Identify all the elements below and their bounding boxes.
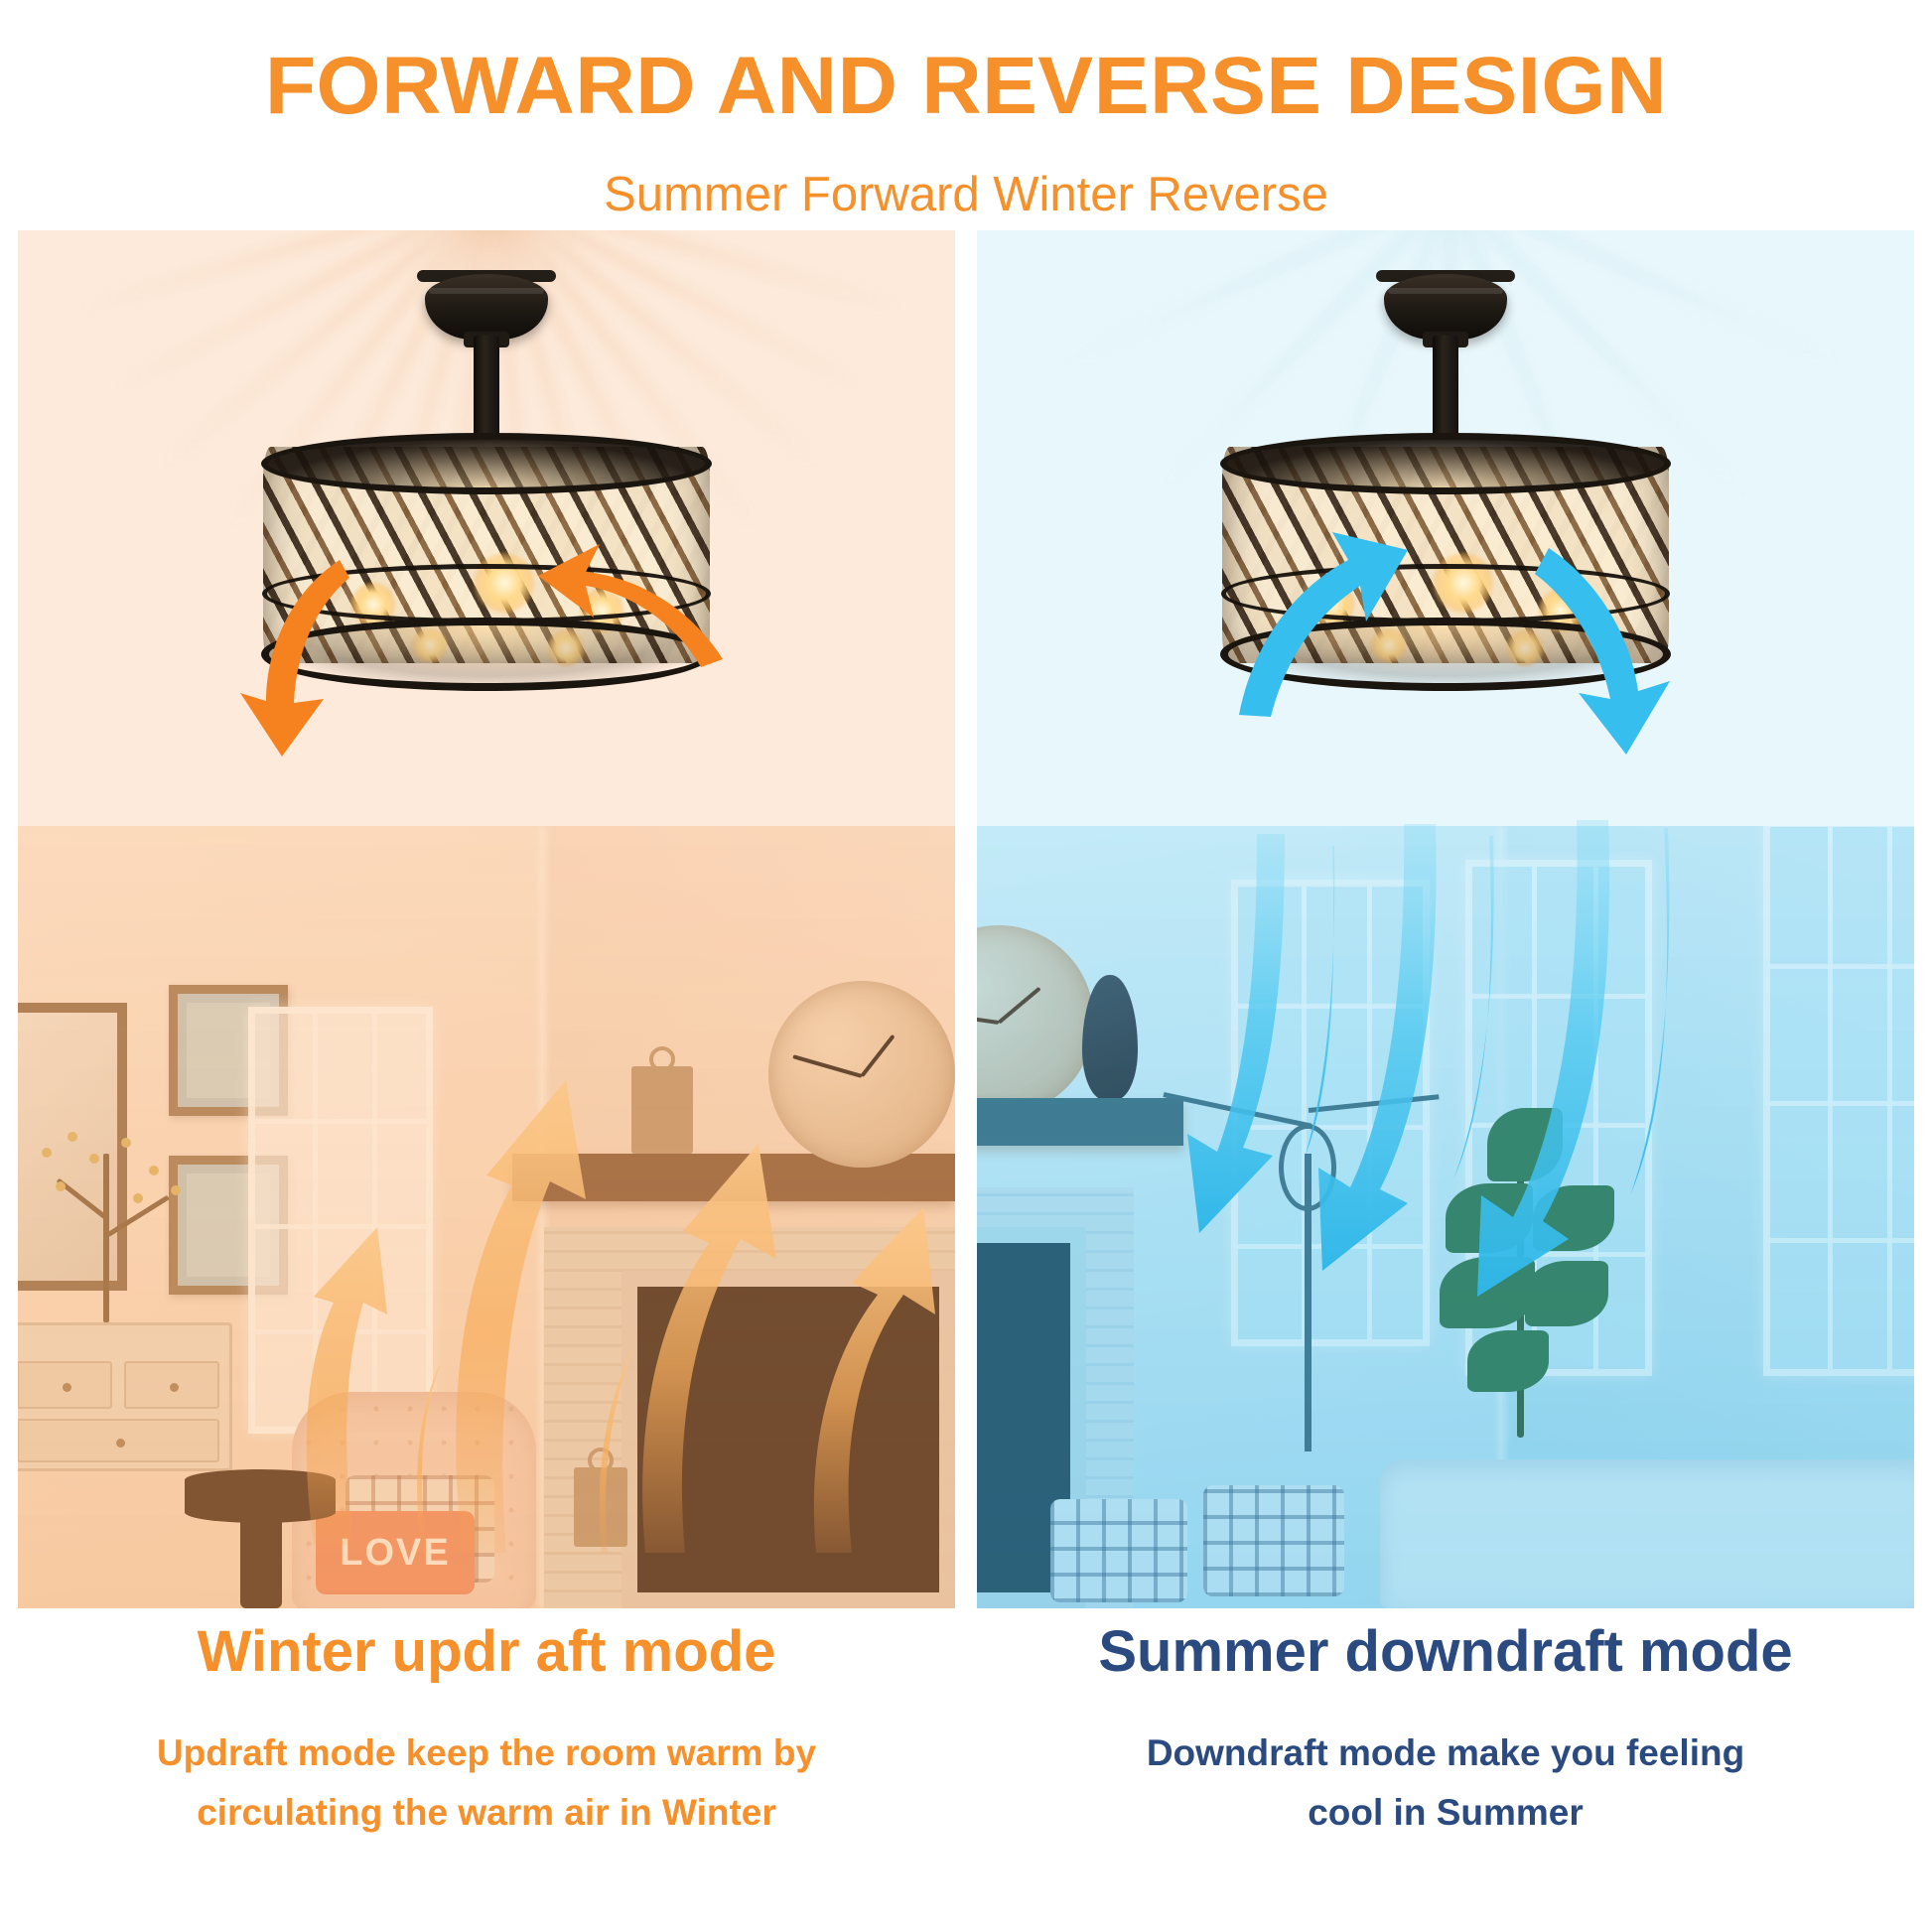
summer-desc-line-2: cool in Summer (977, 1783, 1914, 1843)
caption-summer: Summer downdraft mode Downdraft mode mak… (977, 1620, 1914, 1843)
caption-winter: Winter updr aft mode Updraft mode keep t… (18, 1620, 955, 1843)
page-title: FORWARD AND REVERSE DESIGN (0, 44, 1932, 129)
infographic-page: FORWARD AND REVERSE DESIGN Summer Forwar… (0, 0, 1932, 1932)
rotation-arrow-left-ccw (236, 552, 385, 760)
airflow-arrows-up (197, 806, 955, 1561)
canopy-dome (1384, 274, 1507, 340)
summer-scene (977, 230, 1914, 1608)
canopy-dome (425, 274, 548, 340)
rotation-arrow-right-cw (1515, 542, 1684, 760)
rotation-arrow-left-cw (1233, 526, 1422, 725)
winter-scene: LOVE (18, 230, 955, 1608)
airflow-arrows-down (987, 806, 1914, 1561)
summer-mode-label: Summer downdraft mode (977, 1620, 1914, 1684)
canopy-ring (429, 288, 544, 294)
page-subtitle: Summer Forward Winter Reverse (0, 169, 1932, 222)
winter-desc-line-2: circulating the warm air in Winter (18, 1783, 955, 1843)
downrod (474, 336, 499, 439)
panel-summer (977, 230, 1914, 1608)
panel-winter: LOVE (18, 230, 955, 1608)
drum-top-ring (261, 433, 712, 494)
branch-arrangement (26, 1124, 205, 1322)
panels-container: LOVE (0, 230, 1932, 1608)
drum-top-ring (1220, 433, 1671, 494)
captions: Winter updr aft mode Updraft mode keep t… (0, 1620, 1932, 1932)
canopy-ring (1388, 288, 1503, 294)
downrod (1433, 336, 1458, 439)
summer-desc-line-1: Downdraft mode make you feeling (977, 1724, 1914, 1783)
winter-mode-label: Winter updr aft mode (18, 1620, 955, 1684)
winter-desc-line-1: Updraft mode keep the room warm by (18, 1724, 955, 1783)
rotation-arrow-right-ccw (538, 534, 727, 713)
header: FORWARD AND REVERSE DESIGN Summer Forwar… (0, 0, 1932, 230)
